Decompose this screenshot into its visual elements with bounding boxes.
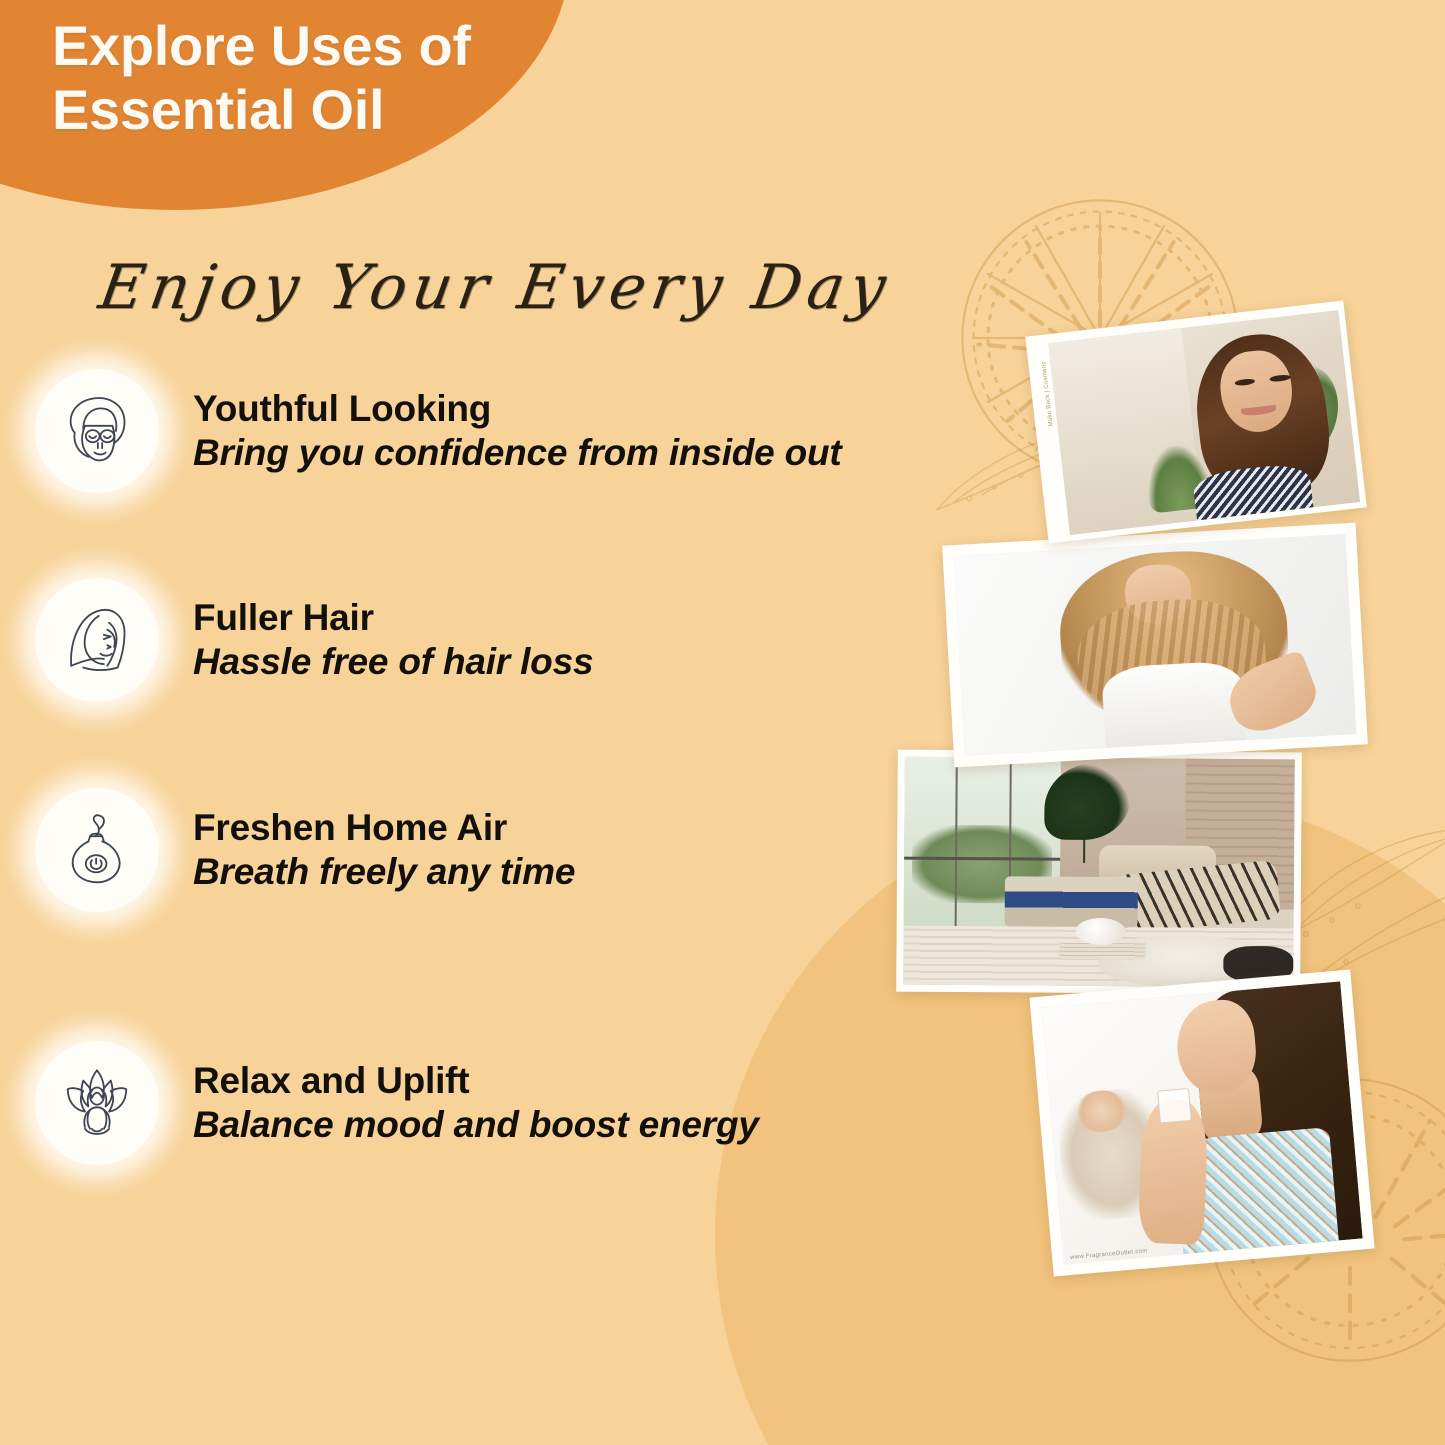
boho-living-room-diffuser-photo [896,750,1302,995]
oil-diffuser-icon [35,788,159,912]
photo-image [1041,981,1362,1264]
feature-text-block: Youthful Looking Bring you confidence fr… [193,387,842,474]
feature-text-block: Freshen Home Air Breath freely any time [193,806,575,893]
infographic-canvas: Explore Uses of Essential Oil Enjoy Your… [0,0,1445,1445]
feature-subtitle: Breath freely any time [193,850,575,894]
long-wavy-hair-woman-photo [942,523,1368,768]
feature-text-block: Fuller Hair Hassle free of hair loss [193,596,593,683]
smiling-woman-indoors-photo: Make Back | Cosmetic [1025,301,1366,544]
feature-item-relax-and-uplift: Relax and Uplift Balance mood and boost … [35,1041,759,1165]
feature-subtitle: Hassle free of hair loss [193,640,593,684]
feature-text-block: Relax and Uplift Balance mood and boost … [193,1059,759,1146]
feature-title: Freshen Home Air [193,806,575,850]
feature-item-youthful-looking: Youthful Looking Bring you confidence fr… [35,369,842,493]
woman-applying-fragrance-photo: www.FragranceOutlet.com [1029,970,1374,1277]
feature-title: Fuller Hair [193,596,593,640]
lotus-meditation-icon [35,1041,159,1165]
hair-profile-icon [35,578,159,702]
photo-image [1048,310,1360,535]
photo-image [954,534,1357,756]
feature-subtitle: Balance mood and boost energy [193,1103,759,1147]
feature-title: Youthful Looking [193,387,842,431]
photo-image [903,757,1295,988]
feature-item-freshen-home-air: Freshen Home Air Breath freely any time [35,788,575,912]
page-title: Explore Uses of Essential Oil [52,14,471,143]
feature-subtitle: Bring you confidence from inside out [193,431,842,475]
script-headline: Enjoy Your Every Day [94,252,896,323]
feature-item-fuller-hair: Fuller Hair Hassle free of hair loss [35,578,593,702]
face-mask-icon [35,369,159,493]
feature-title: Relax and Uplift [193,1059,759,1103]
